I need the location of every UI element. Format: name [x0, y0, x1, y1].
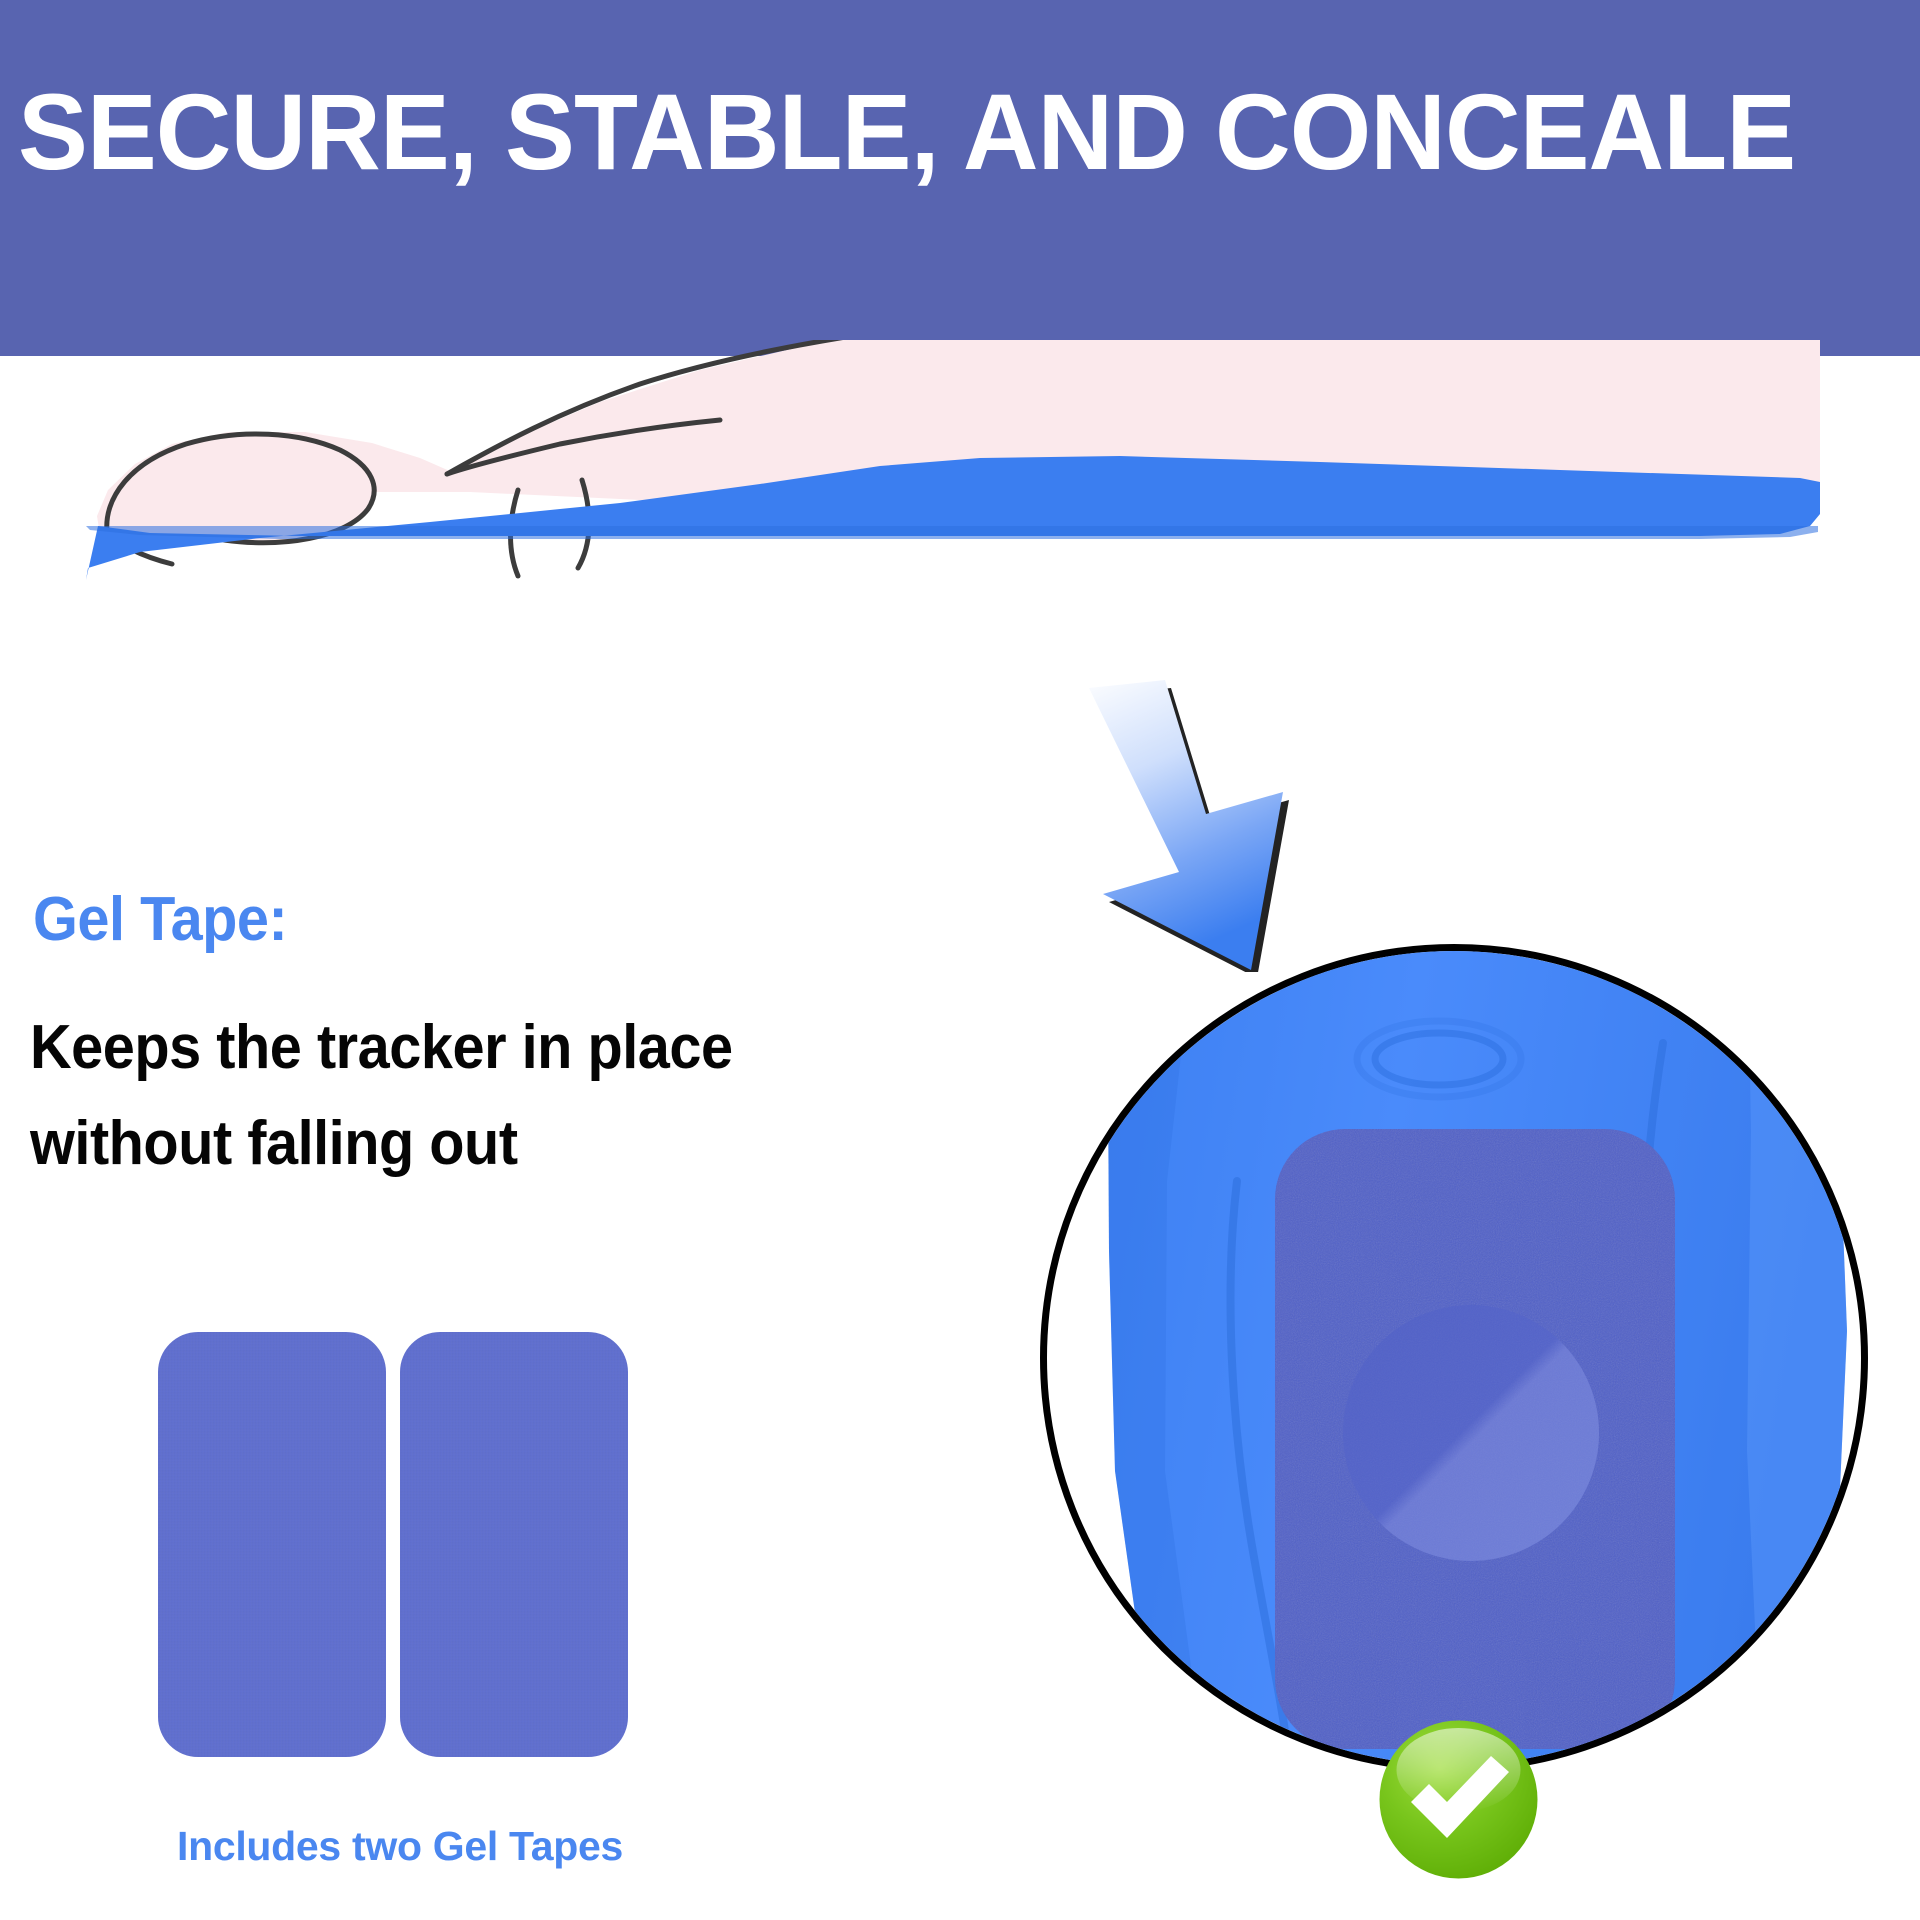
gel-tape-caption: Includes two Gel Tapes: [0, 1822, 800, 1870]
gel-tape-heading: Gel Tape:: [33, 885, 287, 955]
detail-callout-circle: [1040, 944, 1868, 1772]
detail-callout-content: [1047, 951, 1861, 1765]
page-title: SECURE, STABLE, AND CONCEALE: [18, 72, 1920, 192]
header-banner: SECURE, STABLE, AND CONCEALE: [0, 0, 1920, 356]
gel-tape-swatch-1: [158, 1332, 386, 1757]
infographic-page: SECURE, STABLE, AND CONCEALE: [0, 0, 1920, 1920]
gel-tape-description-line-2: without falling out: [30, 1096, 848, 1192]
tracker-disc: [1343, 1305, 1599, 1561]
gel-tape-swatch-2: [400, 1332, 628, 1757]
check-badge: [1377, 1718, 1540, 1881]
foot-insole-illustration: [0, 340, 1920, 670]
gel-tape-description: Keeps the tracker in place without falli…: [30, 1000, 848, 1192]
down-arrow-icon: [1055, 672, 1325, 972]
gel-tape-description-line-1: Keeps the tracker in place: [30, 1000, 848, 1096]
